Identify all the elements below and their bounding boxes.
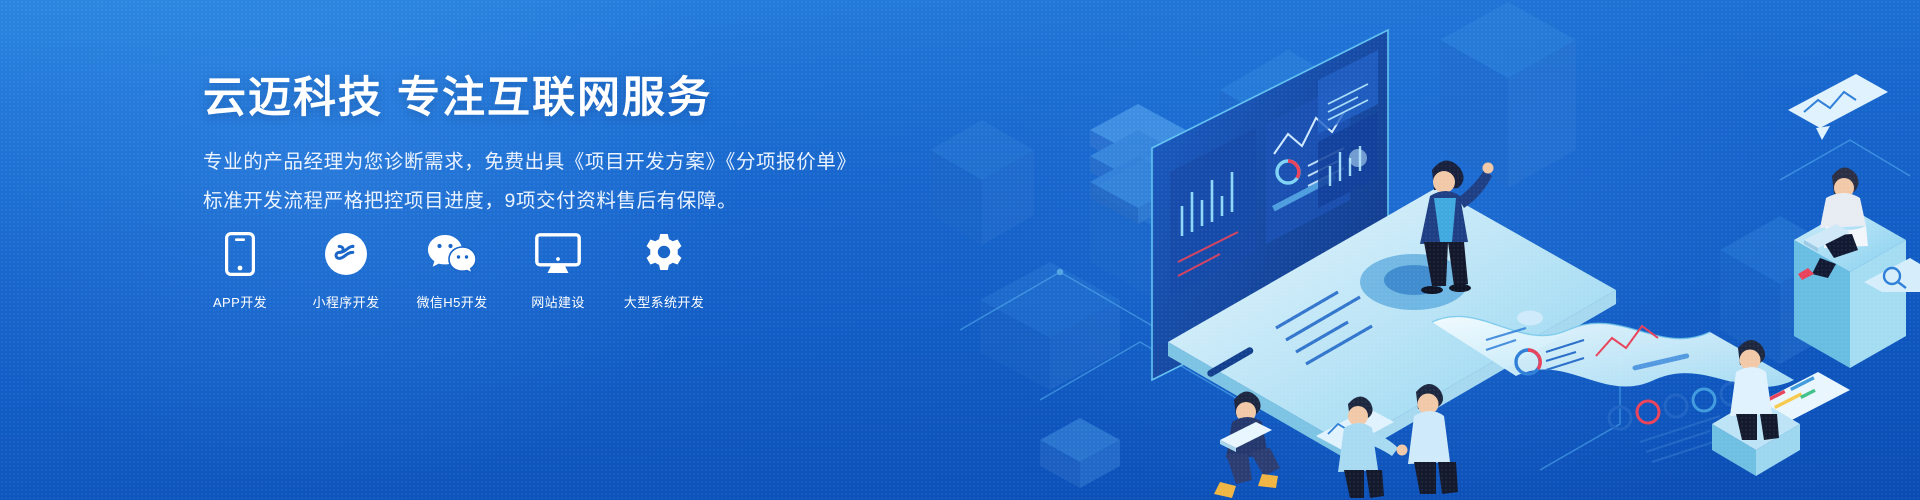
monitor-icon: [530, 232, 586, 276]
wechat-icon: [424, 232, 480, 276]
mobile-phone-icon: [212, 232, 268, 276]
hero-banner: 云迈科技 专注互联网服务 专业的产品经理为您诊断需求，免费出具《项目开发方案》《…: [0, 0, 1920, 500]
sparkline-card: [1788, 74, 1888, 140]
subtitle-line-1: 专业的产品经理为您诊断需求，免费出具《项目开发方案》《分项报价单》: [203, 147, 903, 177]
isometric-illustration: [920, 0, 1920, 500]
small-block: [1040, 418, 1120, 488]
subtitle-line-2: 标准开发流程严格把控项目进度，9项交付资料售后有保障。: [203, 186, 903, 216]
service-item-app[interactable]: APP开发: [203, 232, 277, 311]
service-label: 微信H5开发: [416, 292, 487, 311]
service-item-website[interactable]: 网站建设: [521, 232, 595, 311]
service-item-wechat-h5[interactable]: 微信H5开发: [415, 232, 489, 311]
hero-copy: 云迈科技 专注互联网服务 专业的产品经理为您诊断需求，免费出具《项目开发方案》《…: [203, 72, 903, 225]
service-item-large-system[interactable]: 大型系统开发: [627, 232, 701, 311]
hero-subtitle: 专业的产品经理为您诊断需求，免费出具《项目开发方案》《分项报价单》 标准开发流程…: [203, 126, 903, 216]
mini-program-icon: [318, 232, 374, 276]
service-label: APP开发: [213, 292, 267, 311]
gear-icon: [636, 232, 692, 276]
service-label: 大型系统开发: [624, 292, 704, 311]
service-item-miniprogram[interactable]: 小程序开发: [309, 232, 383, 311]
page-title: 云迈科技 专注互联网服务: [203, 72, 903, 126]
service-label: 小程序开发: [312, 292, 379, 311]
service-label: 网站建设: [531, 292, 585, 311]
service-list: APP开发 小程序开发: [203, 232, 701, 311]
